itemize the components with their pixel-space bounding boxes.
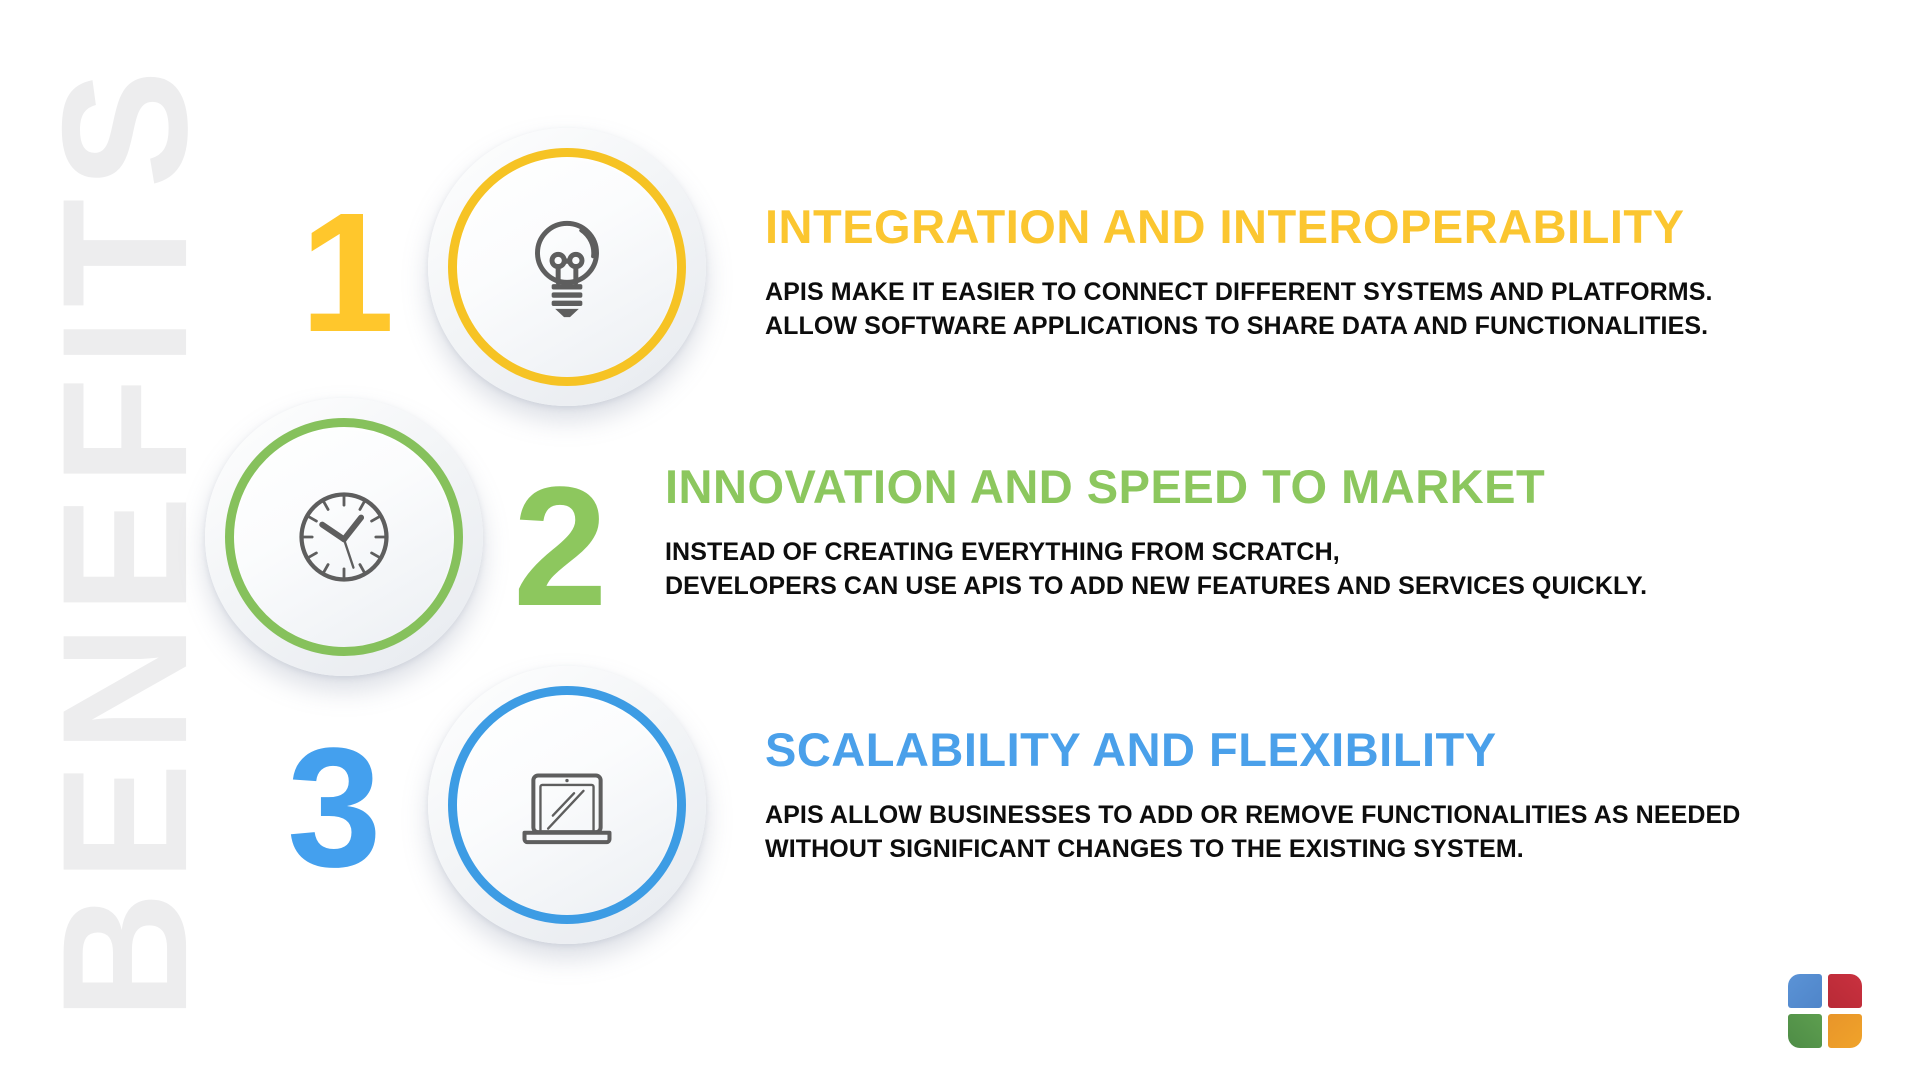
four-square-logo[interactable] bbox=[1788, 974, 1862, 1048]
benefit-badge-2[interactable] bbox=[205, 398, 483, 676]
clock-icon bbox=[285, 478, 403, 596]
benefit-headline-3: SCALABILITY AND FLEXIBILITY bbox=[765, 725, 1740, 774]
benefit-badge-ring-2 bbox=[225, 418, 463, 656]
benefit-body-line: APIS MAKE IT EASIER TO CONNECT DIFFERENT… bbox=[765, 276, 1713, 309]
benefit-badge-ring-1 bbox=[448, 148, 686, 386]
benefit-headline-1: INTEGRATION AND INTEROPERABILITY bbox=[765, 202, 1713, 251]
benefit-number-1: 1 bbox=[300, 188, 395, 358]
benefit-body-line: ALLOW SOFTWARE APPLICATIONS TO SHARE DAT… bbox=[765, 310, 1713, 343]
benefit-badge-ring-3 bbox=[448, 686, 686, 924]
benefit-text-1: INTEGRATION AND INTEROPERABILITY APIS MA… bbox=[765, 202, 1713, 343]
benefit-badge-1[interactable] bbox=[428, 128, 706, 406]
laptop-icon bbox=[508, 746, 626, 864]
benefit-headline-2: INNOVATION AND SPEED TO MARKET bbox=[665, 462, 1647, 511]
benefit-text-2: INNOVATION AND SPEED TO MARKET INSTEAD O… bbox=[665, 462, 1647, 603]
benefit-body-3: APIS ALLOW BUSINESSES TO ADD OR REMOVE F… bbox=[765, 799, 1740, 866]
logo-quadrant-bottom-right bbox=[1828, 1014, 1862, 1048]
logo-quadrant-bottom-left bbox=[1788, 1014, 1822, 1048]
benefit-body-line: INSTEAD OF CREATING EVERYTHING FROM SCRA… bbox=[665, 536, 1647, 569]
benefit-body-line: DEVELOPERS CAN USE APIS TO ADD NEW FEATU… bbox=[665, 570, 1647, 603]
benefit-body-1: APIS MAKE IT EASIER TO CONNECT DIFFERENT… bbox=[765, 276, 1713, 343]
benefit-body-line: APIS ALLOW BUSINESSES TO ADD OR REMOVE F… bbox=[765, 799, 1740, 832]
benefit-number-3: 3 bbox=[287, 723, 382, 893]
lightbulb-icon bbox=[508, 208, 626, 326]
logo-quadrant-top-right bbox=[1828, 974, 1862, 1008]
benefit-badge-3[interactable] bbox=[428, 666, 706, 944]
benefit-number-2: 2 bbox=[513, 462, 608, 632]
benefit-body-line: WITHOUT SIGNIFICANT CHANGES TO THE EXIST… bbox=[765, 833, 1740, 866]
benefit-body-2: INSTEAD OF CREATING EVERYTHING FROM SCRA… bbox=[665, 536, 1647, 603]
benefit-text-3: SCALABILITY AND FLEXIBILITY APIS ALLOW B… bbox=[765, 725, 1740, 866]
logo-quadrant-top-left bbox=[1788, 974, 1822, 1008]
benefits-watermark-text: BENEFITS bbox=[36, 60, 214, 1020]
